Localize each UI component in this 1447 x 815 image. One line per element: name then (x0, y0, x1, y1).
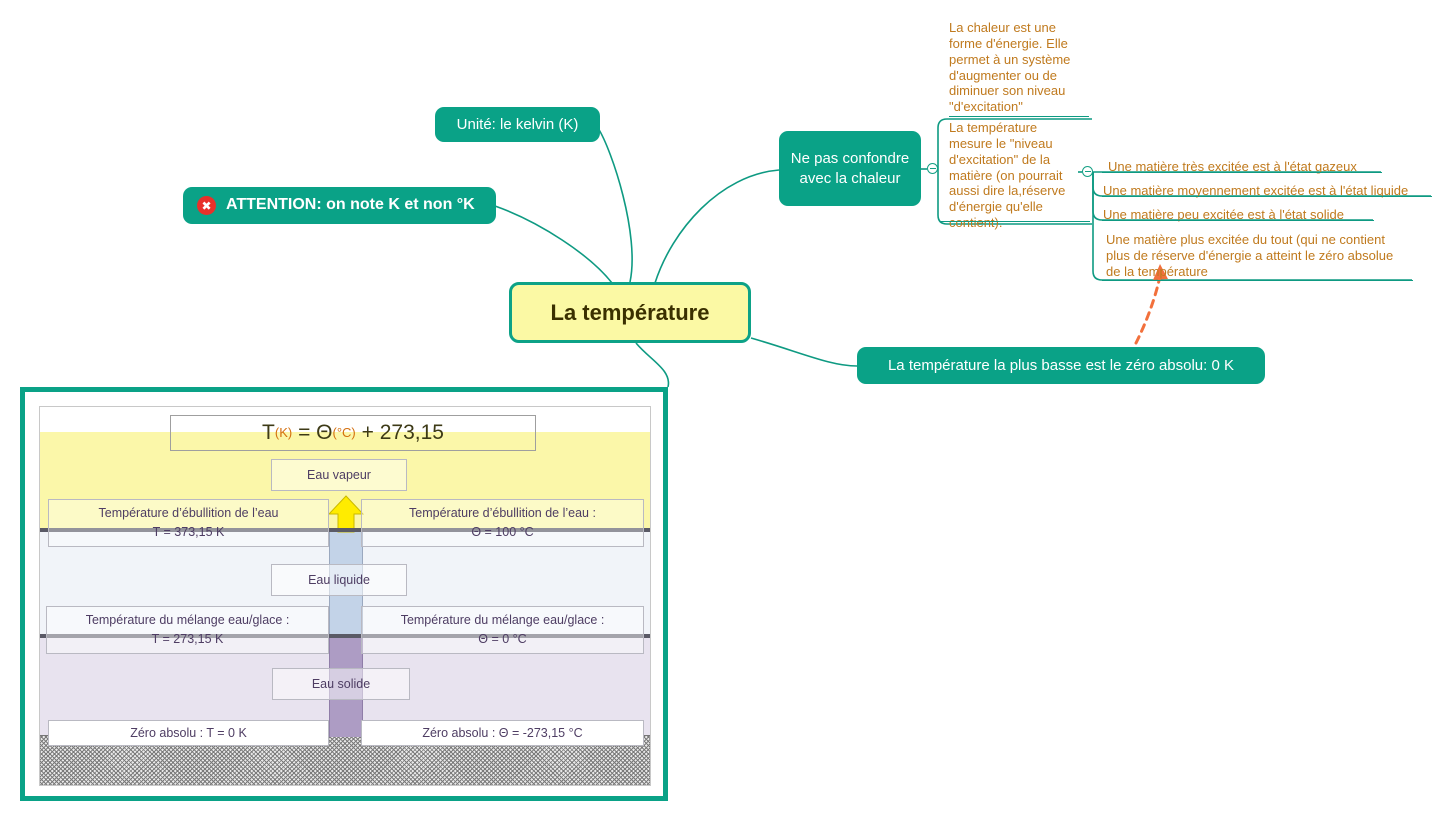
label-boiling-celsius-line1: Température d’ébullition de l’eau : (409, 505, 596, 522)
label-eau-solide: Eau solide (272, 668, 410, 700)
label-mix-kelvin-line2: T = 273,15 K (86, 631, 290, 648)
formula-theta: Θ (316, 419, 332, 447)
label-boiling-celsius: Température d’ébullition de l’eau : Θ = … (361, 499, 644, 547)
etat-item-gazeux-underline (1102, 172, 1382, 173)
label-zero-celsius: Zéro absolu : Θ = -273,15 °C (361, 720, 644, 746)
node-ne-pas-confondre[interactable]: Ne pas confondre avec la chaleur (779, 131, 921, 206)
label-mix-celsius-line1: Température du mélange eau/glace : (401, 612, 605, 629)
collapse-icon-etats[interactable] (1082, 166, 1093, 177)
etat-item-solide-underline (1102, 220, 1374, 221)
central-node-label: La température (551, 300, 710, 326)
mindmap-canvas: La température Unité: le kelvin (K) ✖ AT… (0, 0, 1447, 815)
note-chaleur[interactable]: La chaleur est une forme d'énergie. Elle… (949, 20, 1089, 115)
label-mix-celsius-line2: Θ = 0 °C (401, 631, 605, 648)
collapse-icon-chaleur[interactable] (927, 163, 938, 174)
formula-rest: + 273,15 (362, 419, 444, 447)
formula-t-sub: (K) (275, 424, 292, 442)
label-eau-vapeur: Eau vapeur (271, 459, 407, 491)
node-attention-label: ATTENTION: on note K et non °K (226, 195, 475, 216)
formula-t: T (262, 419, 275, 447)
thermometer-diagram-inner: T(K) = Θ(°C) + 273,15 Eau vapeur Eau liq… (39, 406, 651, 786)
etat-item-liquide-underline (1102, 196, 1432, 197)
note-chaleur-underline (949, 116, 1089, 117)
node-temperature-plus-basse-label: La température la plus basse est le zéro… (888, 356, 1234, 376)
label-zero-kelvin: Zéro absolu : T = 0 K (48, 720, 329, 746)
node-unite-kelvin[interactable]: Unité: le kelvin (K) (435, 107, 600, 142)
label-mix-kelvin: Température du mélange eau/glace : T = 2… (46, 606, 329, 654)
label-mix-kelvin-line1: Température du mélange eau/glace : (86, 612, 290, 629)
etat-item-zero-absolu[interactable]: Une matière plus excitée du tout (qui ne… (1106, 232, 1406, 280)
label-eau-liquide: Eau liquide (271, 564, 407, 596)
x-circle-icon: ✖ (197, 196, 216, 215)
label-boiling-kelvin-line1: Température d’ébullition de l’eau (99, 505, 279, 522)
label-boiling-celsius-line2: Θ = 100 °C (409, 524, 596, 541)
formula-equals: = (298, 419, 310, 447)
label-boiling-kelvin: Température d’ébullition de l’eau T = 37… (48, 499, 329, 547)
formula-box: T(K) = Θ(°C) + 273,15 (170, 415, 536, 451)
note-temperature-mesure-underline (940, 221, 1090, 222)
etat-item-zero-absolu-underline (1102, 280, 1413, 281)
node-unite-label: Unité: le kelvin (K) (457, 115, 579, 135)
formula-theta-sub: (°C) (333, 424, 356, 442)
node-attention[interactable]: ✖ ATTENTION: on note K et non °K (183, 187, 496, 224)
label-boiling-kelvin-line2: T = 373,15 K (99, 524, 279, 541)
note-temperature-mesure[interactable]: La température mesure le "niveau d'excit… (949, 120, 1067, 231)
node-temperature-plus-basse[interactable]: La température la plus basse est le zéro… (857, 347, 1265, 384)
label-mix-celsius: Température du mélange eau/glace : Θ = 0… (361, 606, 644, 654)
central-node[interactable]: La température (509, 282, 751, 343)
thermometer-diagram[interactable]: T(K) = Θ(°C) + 273,15 Eau vapeur Eau liq… (20, 387, 668, 801)
node-ne-pas-confondre-label: Ne pas confondre avec la chaleur (779, 149, 921, 188)
